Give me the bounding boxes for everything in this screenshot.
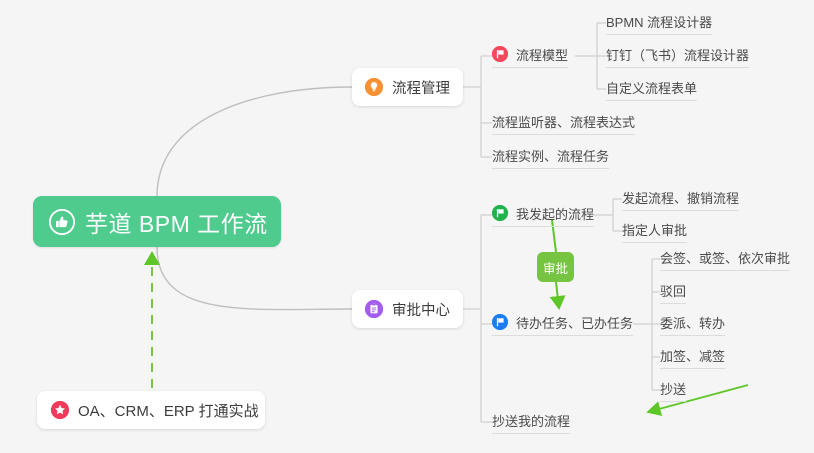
node-reject[interactable]: 驳回 <box>660 280 686 304</box>
wire-root-to-process-management <box>157 87 352 196</box>
node-delegate-transfer[interactable]: 委派、转办 <box>660 312 725 336</box>
thumbs-up-icon <box>49 209 75 235</box>
node-my-initiated-flows[interactable]: 我发起的流程 <box>492 203 594 227</box>
node-designated-approver[interactable]: 指定人审批 <box>622 219 687 243</box>
approval-badge-label: 审批 <box>543 258 568 277</box>
node-delegate-transfer-label: 委派、转办 <box>660 313 725 332</box>
node-process-instance-label: 流程实例、流程任务 <box>492 146 609 165</box>
node-bpmn-designer-label: BPMN 流程设计器 <box>606 12 712 31</box>
node-carbon-copy[interactable]: 抄送 <box>660 378 686 402</box>
approval-badge[interactable]: 审批 <box>537 252 574 282</box>
node-start-cancel-flow[interactable]: 发起流程、撤销流程 <box>622 187 739 211</box>
node-start-cancel-flow-label: 发起流程、撤销流程 <box>622 188 739 207</box>
node-add-remove-sign[interactable]: 加签、减签 <box>660 345 725 369</box>
red-flag-icon <box>492 46 508 62</box>
node-countersign-orsign-label: 会签、或签、依次审批 <box>660 248 790 267</box>
node-custom-process-form[interactable]: 自定义流程表单 <box>606 77 697 101</box>
red-star-icon <box>51 401 69 419</box>
root-label: 芋道 BPM 工作流 <box>85 205 268 239</box>
node-process-management-label: 流程管理 <box>392 77 450 98</box>
node-integration-practice-label: OA、CRM、ERP 打通实战 <box>78 400 259 421</box>
node-process-management[interactable]: 流程管理 <box>352 68 463 106</box>
node-my-initiated-flows-label: 我发起的流程 <box>516 204 594 223</box>
node-approval-center-label: 审批中心 <box>392 299 450 320</box>
clipboard-icon <box>365 300 383 318</box>
node-integration-practice[interactable]: OA、CRM、ERP 打通实战 <box>37 391 265 429</box>
lightbulb-pin-icon <box>365 78 383 96</box>
node-reject-label: 驳回 <box>660 281 686 300</box>
root-node[interactable]: 芋道 BPM 工作流 <box>33 196 281 247</box>
node-cc-to-me-flows-label: 抄送我的流程 <box>492 411 570 430</box>
node-approval-center[interactable]: 审批中心 <box>352 290 463 328</box>
blue-flag-icon <box>492 314 508 330</box>
node-process-listener[interactable]: 流程监听器、流程表达式 <box>492 111 635 135</box>
node-add-remove-sign-label: 加签、减签 <box>660 346 725 365</box>
mindmap-canvas: 芋道 BPM 工作流 流程管理 审批中心 <box>0 0 814 453</box>
node-bpmn-designer[interactable]: BPMN 流程设计器 <box>606 11 712 35</box>
node-todo-done-tasks[interactable]: 待办任务、已办任务 <box>492 312 633 336</box>
arrow-approve-lower <box>556 282 559 308</box>
node-process-model-label: 流程模型 <box>516 45 568 64</box>
node-process-listener-label: 流程监听器、流程表达式 <box>492 112 635 131</box>
node-process-model[interactable]: 流程模型 <box>492 44 568 68</box>
node-process-instance[interactable]: 流程实例、流程任务 <box>492 145 609 169</box>
node-dingtalk-feishu-designer-label: 钉钉（飞书）流程设计器 <box>606 45 749 64</box>
node-custom-process-form-label: 自定义流程表单 <box>606 78 697 97</box>
node-todo-done-tasks-label: 待办任务、已办任务 <box>516 313 633 332</box>
node-designated-approver-label: 指定人审批 <box>622 220 687 239</box>
node-carbon-copy-label: 抄送 <box>660 379 686 398</box>
node-dingtalk-feishu-designer[interactable]: 钉钉（飞书）流程设计器 <box>606 44 749 68</box>
wire-root-to-approval-center <box>157 247 352 310</box>
node-countersign-orsign[interactable]: 会签、或签、依次审批 <box>660 247 790 271</box>
node-cc-to-me-flows[interactable]: 抄送我的流程 <box>492 410 570 434</box>
green-flag-icon <box>492 205 508 221</box>
